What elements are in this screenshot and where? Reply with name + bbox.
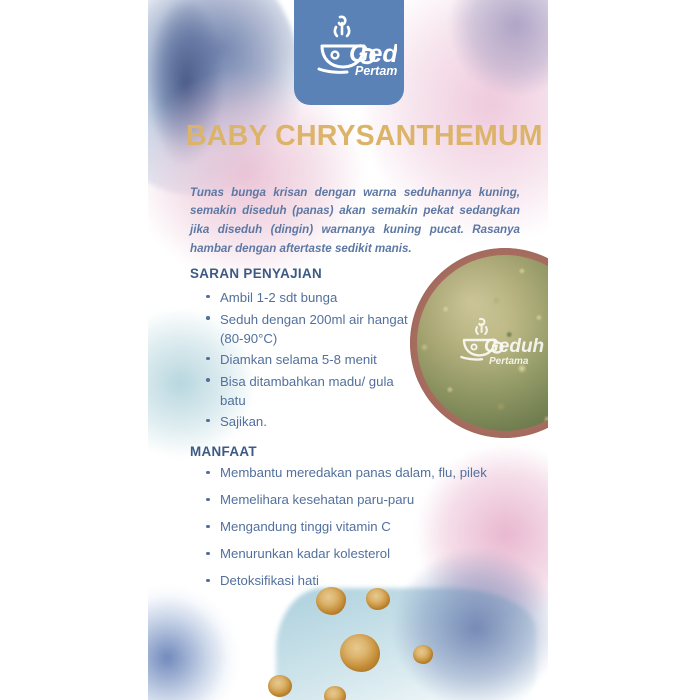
dried-flower-icon [268, 675, 292, 697]
list-item: Seduh dengan 200ml air hangat (80-90°C) [204, 310, 418, 348]
dried-flower-icon [366, 588, 390, 610]
product-photo-chrysanthemum-bowl: Geduh Pertama [410, 248, 548, 438]
dried-flower-icon [413, 645, 433, 664]
product-description: Tunas bunga krisan dengan warna seduhann… [190, 184, 520, 259]
list-item: Bisa ditambahkan madu/ gula batu [204, 372, 418, 410]
poster-canvas: Geduh Pertama BABY CHRYSANTHEMUM Tunas b… [0, 0, 700, 700]
geduh-pertama-cup-icon: Geduh Pertama [301, 7, 397, 91]
list-item: Menurunkan kadar kolesterol [204, 545, 514, 563]
dried-flower-icon [316, 587, 346, 615]
list-item: Detoksifikasi hati [204, 572, 514, 590]
serving-suggestion-list: Ambil 1-2 sdt bunga Seduh dengan 200ml a… [204, 288, 418, 434]
product-title: BABY CHRYSANTHEMUM [186, 122, 538, 151]
benefits-heading: MANFAAT [190, 444, 257, 459]
list-item: Memelihara kesehatan paru-paru [204, 491, 514, 509]
watercolor-wash-top-left-blue [148, 0, 300, 195]
dried-chrysanthemum-buds [417, 255, 548, 431]
benefits-list: Membantu meredakan panas dalam, flu, pil… [204, 464, 514, 599]
dried-flower-icon [340, 634, 380, 672]
list-item: Mengandung tinggi vitamin C [204, 518, 514, 536]
list-item: Membantu meredakan panas dalam, flu, pil… [204, 464, 514, 482]
watercolor-wash-top-left-indigo [148, 0, 240, 190]
watercolor-wash-bottom-teal [276, 588, 536, 700]
brand-logo-badge: Geduh Pertama [294, 0, 404, 105]
list-item: Sajikan. [204, 412, 418, 431]
list-item: Ambil 1-2 sdt bunga [204, 288, 418, 307]
product-info-card: Geduh Pertama BABY CHRYSANTHEMUM Tunas b… [148, 0, 548, 700]
logo-name-secondary: Pertama [355, 64, 397, 78]
dried-flower-icon [324, 686, 346, 700]
watercolor-wash-top-right-mauve [428, 0, 548, 114]
list-item: Diamkan selama 5-8 menit [204, 350, 418, 369]
serving-suggestion-heading: SARAN PENYAJIAN [190, 266, 322, 281]
